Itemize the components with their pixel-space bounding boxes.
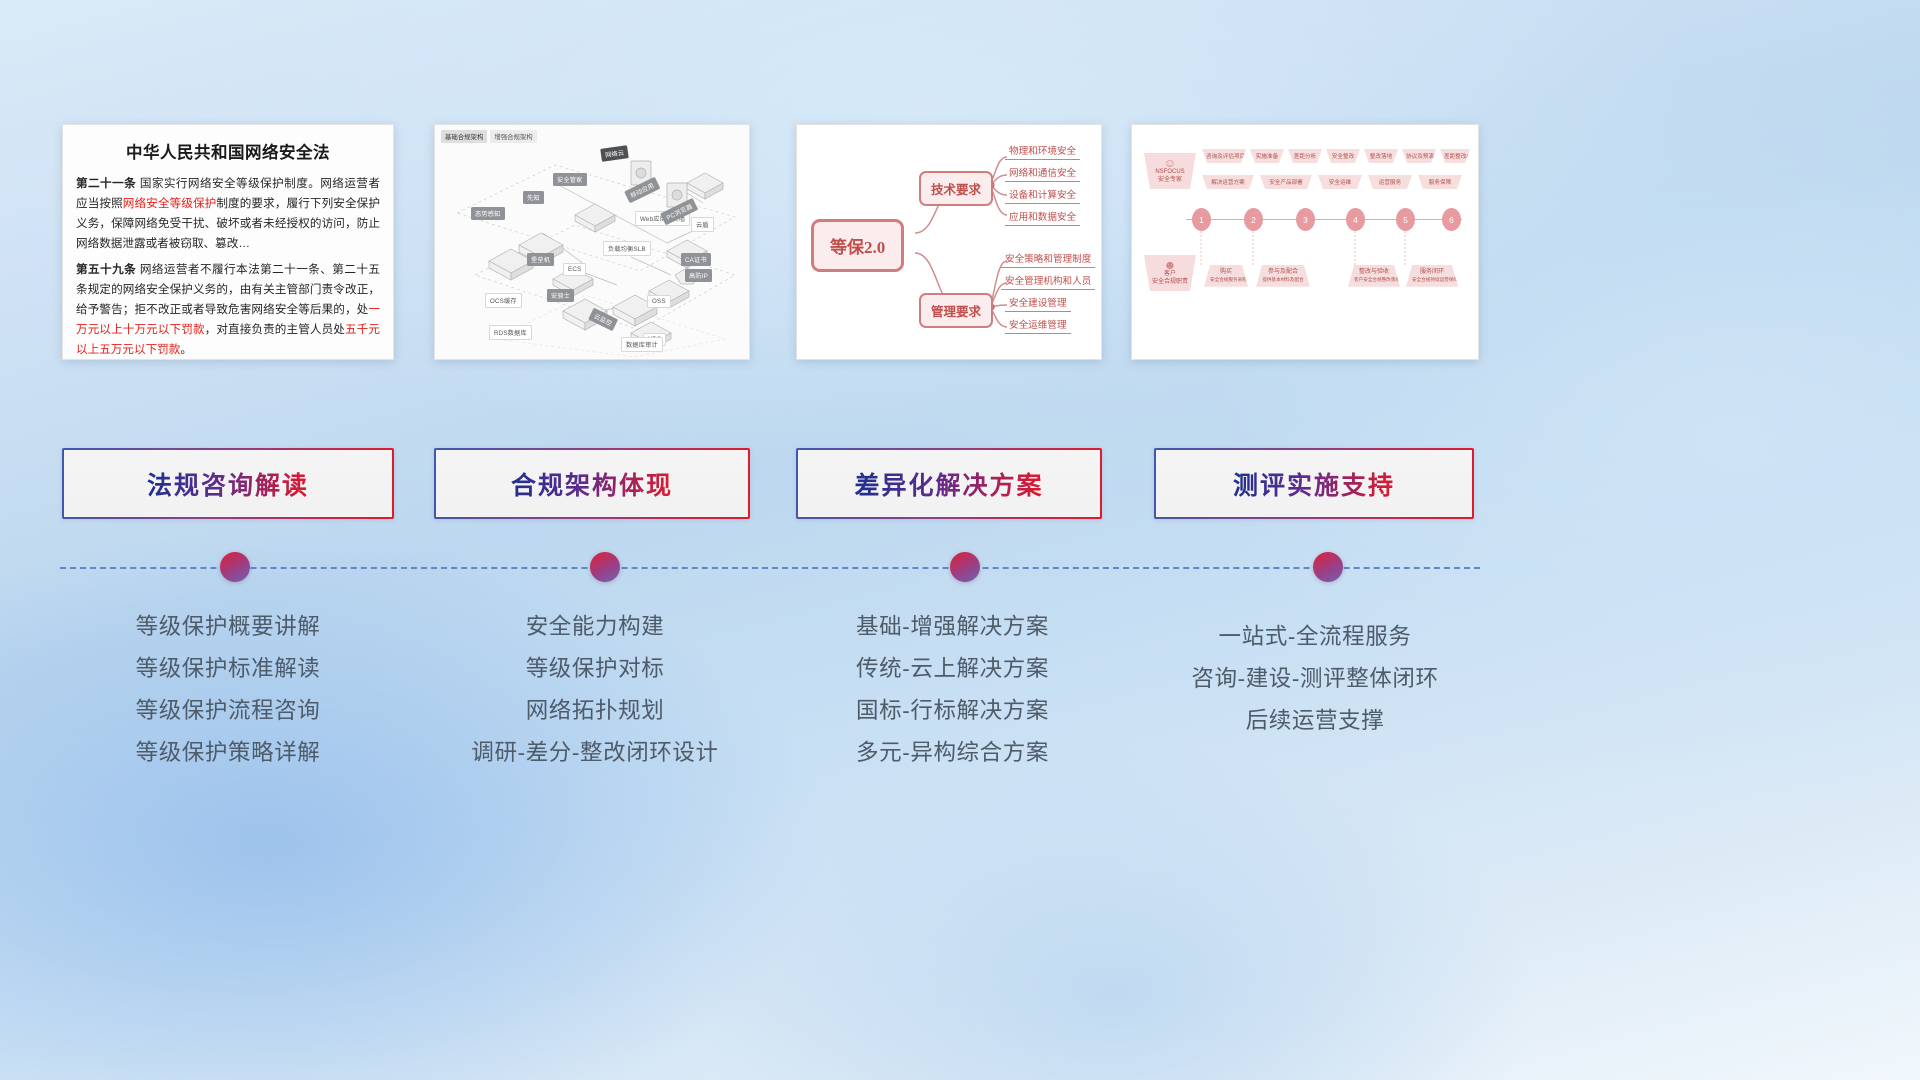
- detail-column-3: 基础-增强解决方案 传统-云上解决方案 国标-行标解决方案 多元-异构综合方案: [790, 606, 1115, 773]
- detail-item: 等级保护标准解读: [62, 648, 394, 690]
- bottom-tag-4: 服务闭环 安全合规持续运营保障: [1406, 265, 1458, 287]
- mindmap-leaf-device-compute: 设备和计算安全: [1005, 187, 1080, 204]
- mid-tag-3: 安全运维: [1318, 175, 1362, 189]
- article-59-text-c: 。: [180, 343, 192, 356]
- timeline-rail: [1186, 219, 1462, 220]
- top-tag-1: 咨询及评估项目启动会/培训: [1202, 149, 1246, 163]
- customer-label: 客户: [1149, 271, 1191, 279]
- detail-item: 多元-异构综合方案: [790, 732, 1115, 774]
- detail-item: 调研-差分-整改闭环设计: [420, 732, 770, 774]
- architecture-wireframe: [435, 125, 750, 360]
- section-header-compliance-architecture[interactable]: 合规架构体现: [434, 448, 750, 519]
- detail-item: 后续运营支撑: [1150, 700, 1480, 742]
- bottom-tag-1: 购买 安全合规服务采购: [1204, 265, 1248, 287]
- mindmap-leaf-construction-mgmt: 安全建设管理: [1005, 295, 1071, 312]
- section-header-2-label: 合规架构体现: [511, 466, 673, 502]
- architecture-canvas: 基础合规架构 增强合规架构: [435, 125, 749, 359]
- architecture-diagram-card[interactable]: 基础合规架构 增强合规架构: [434, 124, 750, 360]
- detail-column-2: 安全能力构建 等级保护对标 网络拓扑规划 调研-差分-整改闭环设计: [420, 606, 770, 773]
- timeline-node-4[interactable]: [1313, 552, 1343, 582]
- timeline-dashed-line: [60, 567, 1480, 569]
- article-59-text-b: ，对直接负责的主管人员处: [205, 323, 345, 336]
- section-header-differentiated-solutions[interactable]: 差异化解决方案: [796, 448, 1102, 519]
- top-tag-4: 安全整改: [1326, 149, 1360, 163]
- law-title: 中华人民共和国网络安全法: [76, 139, 380, 163]
- architecture-tabs: 基础合规架构 增强合规架构: [441, 130, 537, 143]
- chip-oss: OSS: [647, 295, 671, 308]
- mindmap-canvas: 等保2.0 技术要求 物理和环境安全 网络和通信安全 设备和计算安全 应用和数据…: [797, 125, 1101, 359]
- section-header-assessment-support[interactable]: 测评实施支持: [1154, 448, 1474, 519]
- customer-badge: ☻ 客户 安全合规职责: [1144, 255, 1196, 291]
- mindmap-leaf-physical-env: 物理和环境安全: [1005, 143, 1080, 160]
- article-21-highlight: 网络安全等级保护: [123, 197, 217, 210]
- bottom-tag-1-sub: 安全合规服务采购: [1210, 277, 1242, 283]
- mindmap-branch-technical[interactable]: 技术要求: [919, 171, 993, 206]
- mindmap-root-node[interactable]: 等保2.0: [811, 219, 904, 272]
- chip-cloud-shield: 云盾: [691, 217, 714, 232]
- detail-column-row: 等级保护概要讲解 等级保护标准解读 等级保护流程咨询 等级保护策略详解 安全能力…: [0, 606, 1920, 806]
- chip-rds: RDS数据库: [489, 325, 532, 340]
- chip-xianzhi: 先知: [523, 191, 544, 204]
- chip-ecs: ECS: [563, 263, 586, 276]
- section-header-row: 法规咨询解读 合规架构体现 差异化解决方案 测评实施支持: [0, 448, 1920, 520]
- timeline-node-2[interactable]: [590, 552, 620, 582]
- section-header-1-label: 法规咨询解读: [147, 466, 309, 502]
- section-header-3-label: 差异化解决方案: [854, 466, 1043, 502]
- bottom-tag-4-title: 服务闭环: [1412, 269, 1452, 277]
- mindmap-leaf-app-data: 应用和数据安全: [1005, 209, 1080, 226]
- chip-ca-certificate: CA证书: [681, 253, 711, 266]
- top-tag-3: 差距分析: [1288, 149, 1322, 163]
- article-59-label: 第五十九条: [76, 263, 136, 276]
- customer-sub: 安全合规职责: [1149, 279, 1191, 287]
- detail-item: 等级保护对标: [420, 648, 770, 690]
- bottom-tag-3-title: 整改与验收: [1354, 269, 1394, 277]
- bottom-tag-3-sub: 客户安全合规整改落地: [1354, 277, 1394, 283]
- timeline-node-3[interactable]: [950, 552, 980, 582]
- step-dot-3[interactable]: 3: [1296, 208, 1315, 231]
- bottom-tag-2-title: 参与及配合: [1262, 269, 1304, 277]
- chip-security-rider: 安骑士: [547, 289, 574, 302]
- mid-tag-5: 服务保障: [1418, 175, 1462, 189]
- mid-tag-1: 解决运营方案: [1202, 175, 1254, 189]
- step-dot-1[interactable]: 1: [1192, 208, 1211, 231]
- bottom-tag-4-sub: 安全合规持续运营保障: [1412, 277, 1452, 283]
- detail-item: 国标-行标解决方案: [790, 690, 1115, 732]
- detail-item: 传统-云上解决方案: [790, 648, 1115, 690]
- detail-column-4: 一站式-全流程服务 咨询-建设-测评整体闭环 后续运营支撑: [1150, 616, 1480, 742]
- mid-tag-2: 安全产品部署: [1260, 175, 1312, 189]
- article-21-label: 第二十一条: [76, 177, 136, 190]
- mindmap-card[interactable]: 等保2.0 技术要求 物理和环境安全 网络和通信安全 设备和计算安全 应用和数据…: [796, 124, 1102, 360]
- detail-column-1: 等级保护概要讲解 等级保护标准解读 等级保护流程咨询 等级保护策略详解: [62, 606, 394, 773]
- chip-ocs-cache: OCS缓存: [485, 293, 522, 308]
- tab-enhanced-compliance[interactable]: 增强合规架构: [490, 130, 536, 143]
- nsfocus-brand-sub: 安全专家: [1149, 177, 1191, 185]
- detail-item: 安全能力构建: [420, 606, 770, 648]
- nsfocus-expert-badge: ☺ NSFOCUS 安全专家: [1144, 153, 1196, 189]
- chip-anti-ddos-ip: 高防IP: [685, 269, 712, 282]
- bottom-tag-1-title: 购买: [1210, 269, 1242, 277]
- chip-situation-awareness: 态势感知: [471, 207, 505, 220]
- law-article-59: 第五十九条 网络运营者不履行本法第二十一条、第二十五条规定的网络安全保护义务的，…: [76, 260, 380, 360]
- detail-item: 等级保护流程咨询: [62, 690, 394, 732]
- chip-bastion-host: 堡垒机: [527, 253, 554, 266]
- timeline-node-1[interactable]: [220, 552, 250, 582]
- top-tag-7: 差距整改/协助企业完成过等保测评: [1440, 149, 1470, 163]
- chip-db-audit: 数据库审计: [621, 337, 663, 352]
- chip-security-housekeeper: 安全管家: [553, 173, 587, 186]
- timeline-track: [60, 567, 1480, 569]
- step-dot-5[interactable]: 5: [1396, 208, 1415, 231]
- detail-item: 基础-增强解决方案: [790, 606, 1115, 648]
- section-header-regulation-consulting[interactable]: 法规咨询解读: [62, 448, 394, 519]
- bottom-tag-3: 整改与验收 客户安全合规整改落地: [1348, 265, 1400, 287]
- detail-item: 等级保护策略详解: [62, 732, 394, 774]
- top-tag-5: 整改落地: [1364, 149, 1398, 163]
- step-dot-6[interactable]: 6: [1442, 208, 1461, 231]
- step-dot-2[interactable]: 2: [1244, 208, 1263, 231]
- law-text-card[interactable]: 中华人民共和国网络安全法 第二十一条 国家实行网络安全等级保护制度。网络运营者应…: [62, 124, 394, 360]
- chip-slb: 负载均衡SLB: [603, 241, 651, 256]
- nsfocus-brand: NSFOCUS: [1149, 169, 1191, 177]
- service-timeline-card[interactable]: ☺ NSFOCUS 安全专家 咨询及评估项目启动会/培训 实施准备 差距分析 安…: [1131, 124, 1479, 360]
- mid-tag-4: 运营服务: [1368, 175, 1412, 189]
- thumbnail-card-row: 中华人民共和国网络安全法 第二十一条 国家实行网络安全等级保护制度。网络运营者应…: [0, 124, 1920, 364]
- detail-item: 网络拓扑规划: [420, 690, 770, 732]
- detail-item: 一站式-全流程服务: [1150, 616, 1480, 658]
- law-article-21: 第二十一条 国家实行网络安全等级保护制度。网络运营者应当按照网络安全等级保护制度…: [76, 174, 380, 254]
- mindmap-leaf-policy-system: 安全策略和管理制度: [1001, 251, 1095, 268]
- slide-canvas: 中华人民共和国网络安全法 第二十一条 国家实行网络安全等级保护制度。网络运营者应…: [0, 0, 1920, 1080]
- mindmap-branch-management[interactable]: 管理要求: [919, 293, 993, 328]
- step-dot-4[interactable]: 4: [1346, 208, 1365, 231]
- bottom-tag-2: 参与及配合 提供基本材料及配合: [1256, 265, 1310, 287]
- mindmap-leaf-network-comm: 网络和通信安全: [1005, 165, 1080, 182]
- top-tag-6: 协议及预演准备: [1402, 149, 1436, 163]
- law-body: 中华人民共和国网络安全法 第二十一条 国家实行网络安全等级保护制度。网络运营者应…: [63, 125, 393, 360]
- bottom-tag-2-sub: 提供基本材料及配合: [1262, 277, 1304, 283]
- expert-icon: ☺: [1149, 157, 1191, 169]
- detail-item: 等级保护概要讲解: [62, 606, 394, 648]
- mindmap-leaf-ops-mgmt: 安全运维管理: [1005, 317, 1071, 334]
- detail-item: 咨询-建设-测评整体闭环: [1150, 658, 1480, 700]
- tab-basic-compliance[interactable]: 基础合规架构: [441, 130, 487, 143]
- top-tag-2: 实施准备: [1250, 149, 1284, 163]
- user-check-icon: ☻: [1149, 259, 1191, 271]
- section-header-4-label: 测评实施支持: [1233, 466, 1395, 502]
- mindmap-leaf-org-personnel: 安全管理机构和人员: [1001, 273, 1095, 290]
- service-timeline-canvas: ☺ NSFOCUS 安全专家 咨询及评估项目启动会/培训 实施准备 差距分析 安…: [1132, 125, 1478, 359]
